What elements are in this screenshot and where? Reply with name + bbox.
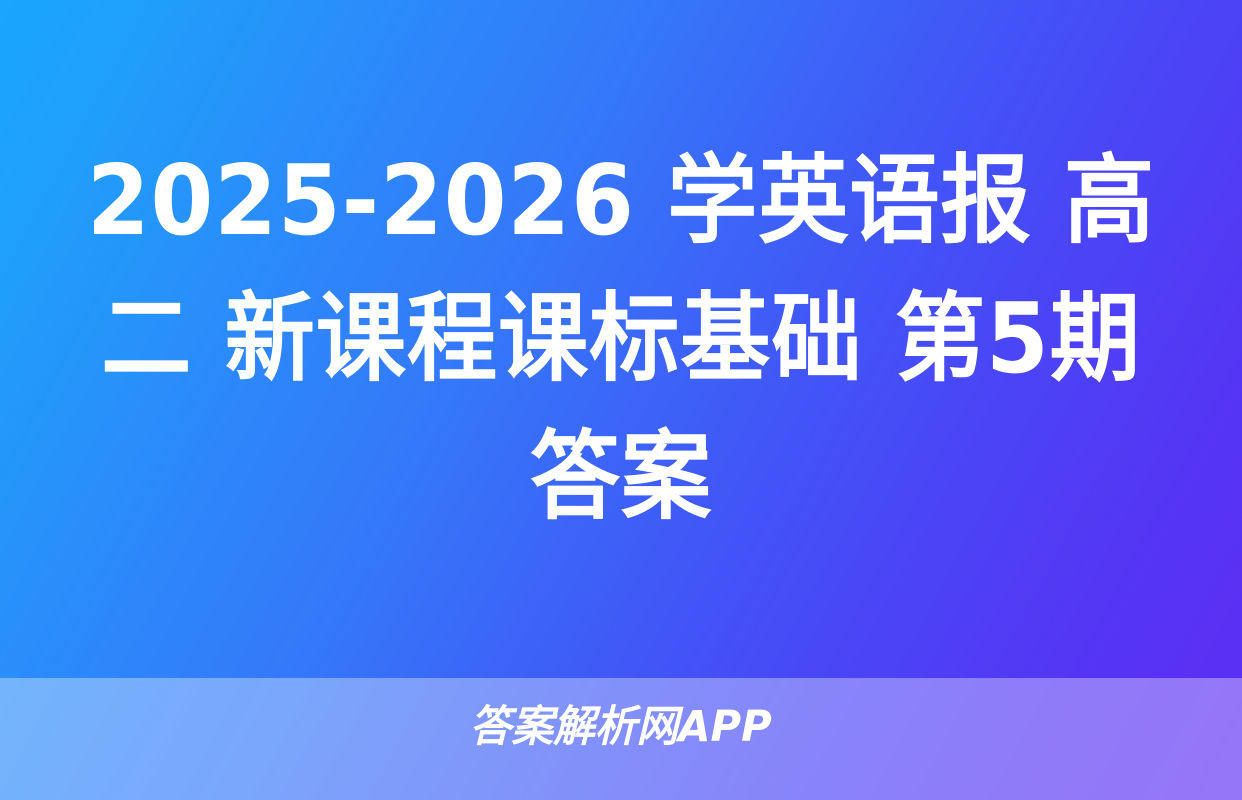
page-title: 2025-2026 学英语报 高二 新课程课标基础 第5期答案 — [86, 132, 1156, 545]
footer-brand-band: 答案解析网APP — [0, 678, 1242, 800]
title-block: 2025-2026 学英语报 高二 新课程课标基础 第5期答案 — [0, 0, 1242, 678]
app-brand-label: 答案解析网APP — [470, 678, 772, 749]
answer-cover-banner: 2025-2026 学英语报 高二 新课程课标基础 第5期答案 答案解析网APP — [0, 0, 1242, 800]
